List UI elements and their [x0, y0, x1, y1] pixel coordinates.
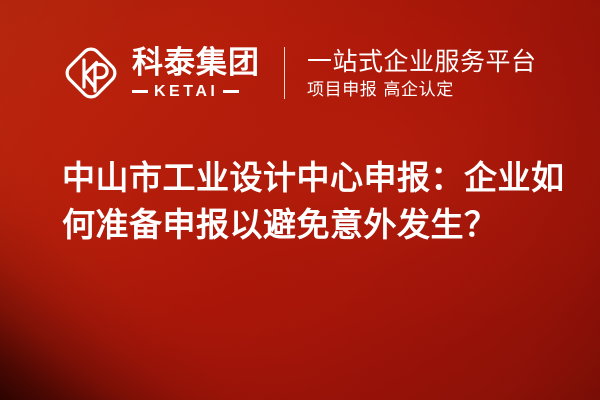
tagline-sub-text: 项目申报 高企认定 — [307, 79, 537, 101]
headline-block: 中山市工业设计中心申报：企业如 何准备申报以避免意外发生？ — [62, 154, 562, 248]
logo-company-name-cn: 科泰集团 — [132, 46, 260, 80]
tagline-main-text: 一站式企业服务平台 — [307, 46, 537, 77]
brand-logo: 科泰集团 KETAI — [62, 40, 260, 106]
banner-header: 科泰集团 KETAI 一站式企业服务平台 项目申报 高企认定 — [62, 38, 537, 108]
vertical-divider-icon — [284, 47, 285, 99]
header-tagline: 一站式企业服务平台 项目申报 高企认定 — [307, 41, 537, 105]
dash-left-icon — [132, 90, 148, 93]
dash-right-icon — [223, 90, 239, 93]
logo-company-name-en: KETAI — [154, 84, 218, 100]
logo-company-name-en-row: KETAI — [132, 83, 260, 100]
headline-line-1: 中山市工业设计中心申报：企业如 — [62, 154, 562, 201]
kp-diamond-monogram-icon — [62, 44, 120, 102]
logo-wordmark: 科泰集团 KETAI — [132, 42, 260, 104]
headline-line-2: 何准备申报以避免意外发生？ — [62, 201, 562, 248]
promotional-banner: 科泰集团 KETAI 一站式企业服务平台 项目申报 高企认定 中山市工业设计中心… — [0, 0, 600, 400]
